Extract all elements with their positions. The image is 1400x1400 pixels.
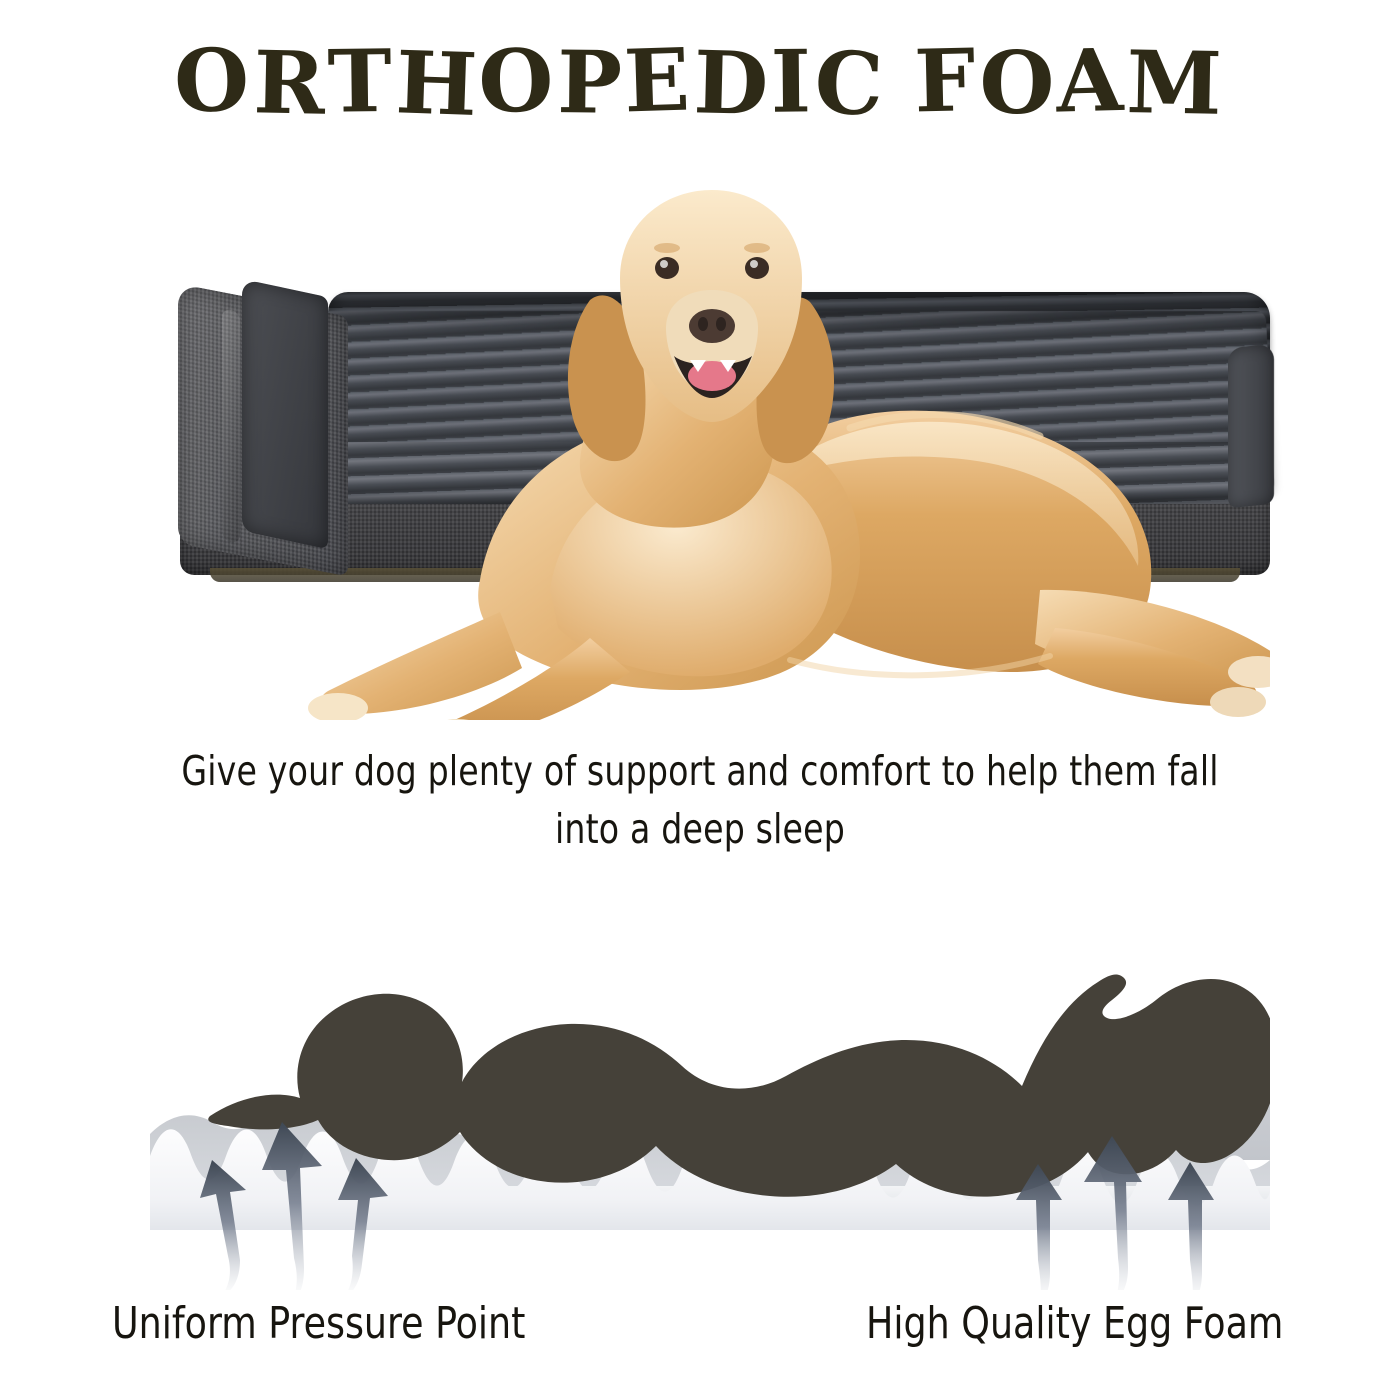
product-photo (150, 160, 1270, 720)
caption-block: Give your dog plenty of support and comf… (151, 742, 1249, 858)
page-title: ORTHOPEDICFOAM (0, 38, 1400, 128)
headline-letter: H (394, 38, 481, 131)
headline-letter: E (622, 35, 693, 127)
headline-letter: O (173, 36, 253, 128)
headline-letter: T (327, 37, 395, 128)
label-uniform-pressure-point: Uniform Pressure Point (112, 1298, 525, 1349)
headline-letter: F (913, 36, 979, 128)
headline-letter: M (1126, 38, 1226, 130)
headline-letter: O (978, 38, 1057, 130)
headline-letter: A (1055, 36, 1127, 128)
orthopedic-foam-diagram (150, 900, 1270, 1290)
headline-letter: I (770, 37, 814, 128)
caption-line-1: Give your dog plenty of support and comf… (151, 742, 1249, 800)
label-high-quality-egg-foam: High Quality Egg Foam (866, 1298, 1283, 1349)
headline-letter: D (693, 38, 773, 130)
headline-letter: C (813, 39, 887, 131)
headline-letter: O (478, 36, 558, 128)
golden-retriever-dog (150, 160, 1270, 720)
headline-letter: P (557, 38, 626, 129)
caption-line-2: into a deep sleep (151, 800, 1249, 858)
headline-letter: R (253, 38, 329, 130)
